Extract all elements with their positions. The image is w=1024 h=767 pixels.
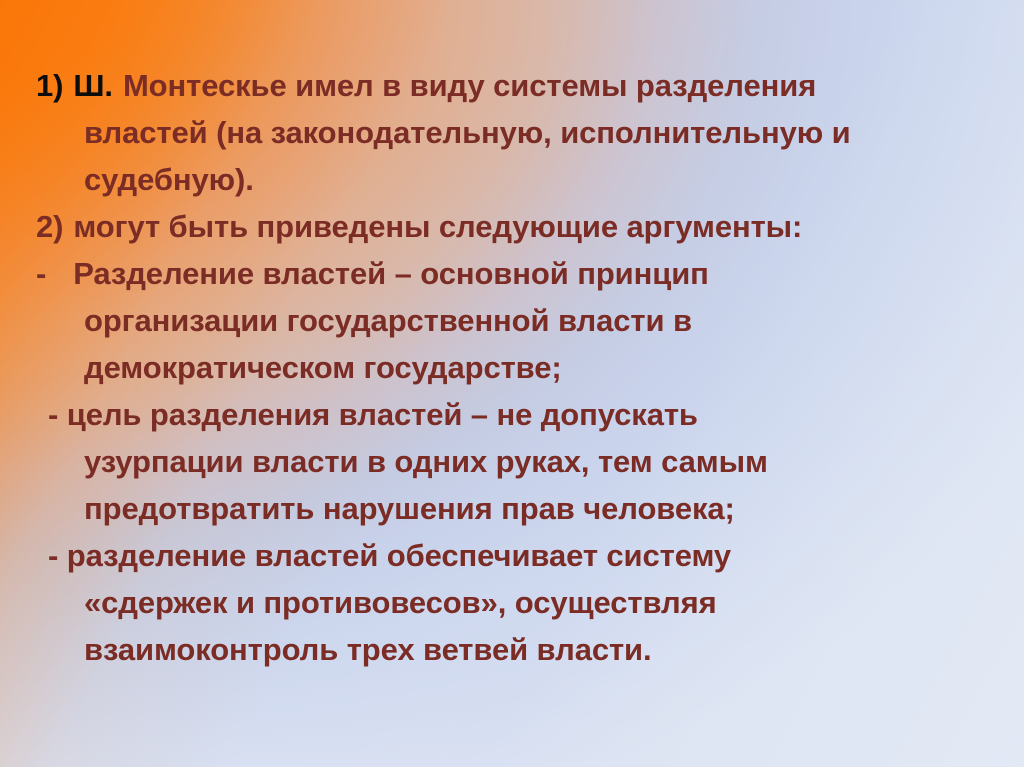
slide-text-block: 1) Ш. Монтескье имел в виду системы разд… <box>22 62 1006 673</box>
bullet-2-line-1: - цель разделения властей – не допускать <box>22 391 1006 438</box>
list-item-1-line-2: властей (на законодательную, исполнитель… <box>22 109 1006 156</box>
list-item-1-line-1: 1) Ш. Монтескье имел в виду системы разд… <box>22 62 1006 109</box>
bullet-3-line-3: взаимоконтроль трех ветвей власти. <box>22 626 1006 673</box>
bullet-2-line-2: узурпации власти в одних руках, тем самы… <box>22 438 1006 485</box>
list-item-2-text: могут быть приведены следующие аргументы… <box>73 203 802 250</box>
bullet-3-line-2: «сдержек и противовесов», осуществляя <box>22 579 1006 626</box>
bullet-1-line-2: организации государственной власти в <box>22 297 1006 344</box>
presentation-slide: 1) Ш. Монтескье имел в виду системы разд… <box>0 0 1024 767</box>
list-item-1-text: Монтескье имел в виду системы разделения <box>123 62 816 109</box>
bullet-1-line-1: - Разделение властей – основной принцип <box>22 250 1006 297</box>
bullet-1-text: Разделение властей – основной принцип <box>73 250 709 297</box>
bullet-3-line-1: - разделение властей обеспечивает систем… <box>22 532 1006 579</box>
dash-bullet-icon: - <box>36 250 46 297</box>
bullet-1-line-3: демократическом государстве; <box>22 344 1006 391</box>
slide-content: 1) Ш. Монтескье имел в виду системы разд… <box>0 0 1024 767</box>
list-marker-1: 1) <box>36 62 63 109</box>
list-marker-2: 2) <box>36 203 63 250</box>
list-item-1-line-3: судебную). <box>22 156 1006 203</box>
lead-initial-sh: Ш. <box>73 62 113 109</box>
list-item-2-line-1: 2) могут быть приведены следующие аргуме… <box>22 203 1006 250</box>
bullet-2-line-3: предотвратить нарушения прав человека; <box>22 485 1006 532</box>
